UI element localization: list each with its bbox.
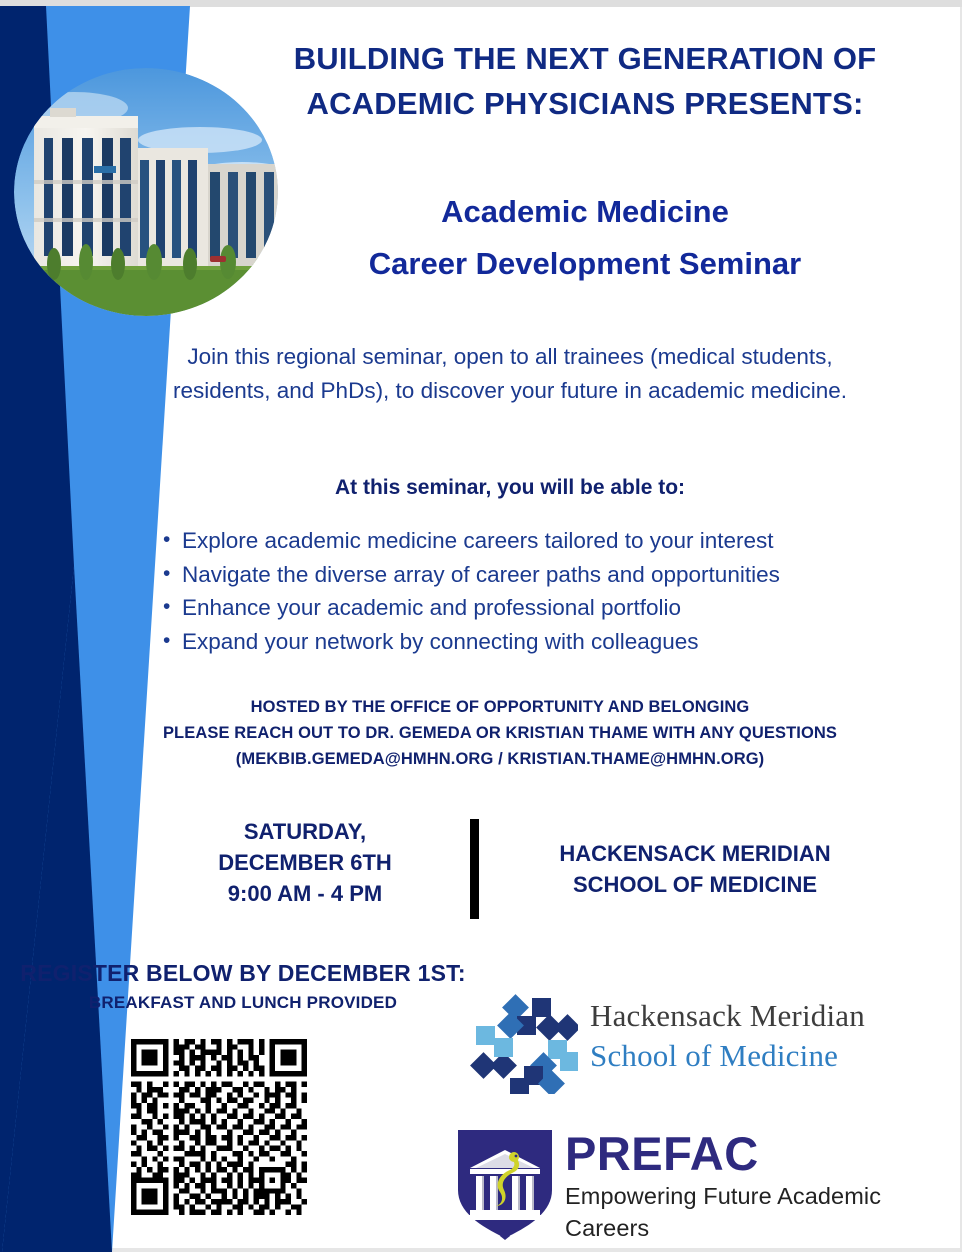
- contact-emails: (MEKBIB.GEMEDA@HMHN.ORG / KRISTIAN.THAME…: [60, 746, 940, 772]
- qr-code[interactable]: [131, 1039, 307, 1215]
- prefac-logo: PREFAC Empowering Future Academic Career…: [452, 1124, 952, 1242]
- headline-line-1: BUILDING THE NEXT GENERATION OF: [232, 36, 938, 81]
- event-title-line-1: Academic Medicine: [232, 186, 938, 238]
- list-item: Enhance your academic and professional p…: [160, 591, 950, 625]
- event-date-day: SATURDAY,: [150, 816, 460, 847]
- hosted-by-block: HOSTED BY THE OFFICE OF OPPORTUNITY AND …: [60, 694, 940, 772]
- list-item: Explore academic medicine careers tailor…: [160, 524, 950, 558]
- prefac-name: PREFAC: [565, 1128, 952, 1180]
- register-subheading: BREAKFAST AND LUNCH PROVIDED: [18, 993, 468, 1013]
- hmsm-line-1: Hackensack Meridian: [590, 996, 865, 1036]
- list-item: Expand your network by connecting with c…: [160, 625, 950, 659]
- hmsm-line-2: School of Medicine: [590, 1036, 865, 1076]
- prefac-wordmark: PREFAC Empowering Future Academic Career…: [565, 1128, 952, 1244]
- hmsm-wordmark: Hackensack Meridian School of Medicine: [590, 996, 865, 1076]
- event-date: SATURDAY, DECEMBER 6TH 9:00 AM - 4 PM: [150, 816, 460, 909]
- prefac-shield-icon: [452, 1124, 558, 1240]
- event-location: HACKENSACK MERIDIAN SCHOOL OF MEDICINE: [495, 838, 895, 900]
- hmsm-diamond-ring-icon: [470, 990, 578, 1094]
- headline-line-2: ACADEMIC PHYSICIANS PRESENTS:: [232, 81, 938, 126]
- vertical-divider: [470, 819, 479, 919]
- page-title: BUILDING THE NEXT GENERATION OF ACADEMIC…: [232, 36, 938, 126]
- event-details-row: SATURDAY, DECEMBER 6TH 9:00 AM - 4 PM HA…: [150, 812, 910, 932]
- register-heading: REGISTER BELOW BY DECEMBER 1ST:: [18, 960, 468, 987]
- benefits-heading: At this seminar, you will be able to:: [140, 476, 880, 500]
- event-location-line-2: SCHOOL OF MEDICINE: [495, 869, 895, 900]
- event-location-line-1: HACKENSACK MERIDIAN: [495, 838, 895, 869]
- intro-paragraph: Join this regional seminar, open to all …: [140, 340, 880, 408]
- event-time: 9:00 AM - 4 PM: [150, 878, 460, 909]
- contact-line: PLEASE REACH OUT TO DR. GEMEDA OR KRISTI…: [60, 720, 940, 746]
- event-date-full: DECEMBER 6TH: [150, 847, 460, 878]
- flyer-poster: BUILDING THE NEXT GENERATION OF ACADEMIC…: [0, 0, 962, 1252]
- event-title-line-2: Career Development Seminar: [232, 238, 938, 290]
- hackensack-meridian-logo: Hackensack Meridian School of Medicine: [470, 990, 910, 1095]
- benefits-list: Explore academic medicine careers tailor…: [160, 524, 950, 658]
- hosted-by-line: HOSTED BY THE OFFICE OF OPPORTUNITY AND …: [60, 694, 940, 720]
- prefac-tagline: Empowering Future Academic Careers: [565, 1180, 952, 1244]
- list-item: Navigate the diverse array of career pat…: [160, 558, 950, 592]
- event-title: Academic Medicine Career Development Sem…: [232, 186, 938, 290]
